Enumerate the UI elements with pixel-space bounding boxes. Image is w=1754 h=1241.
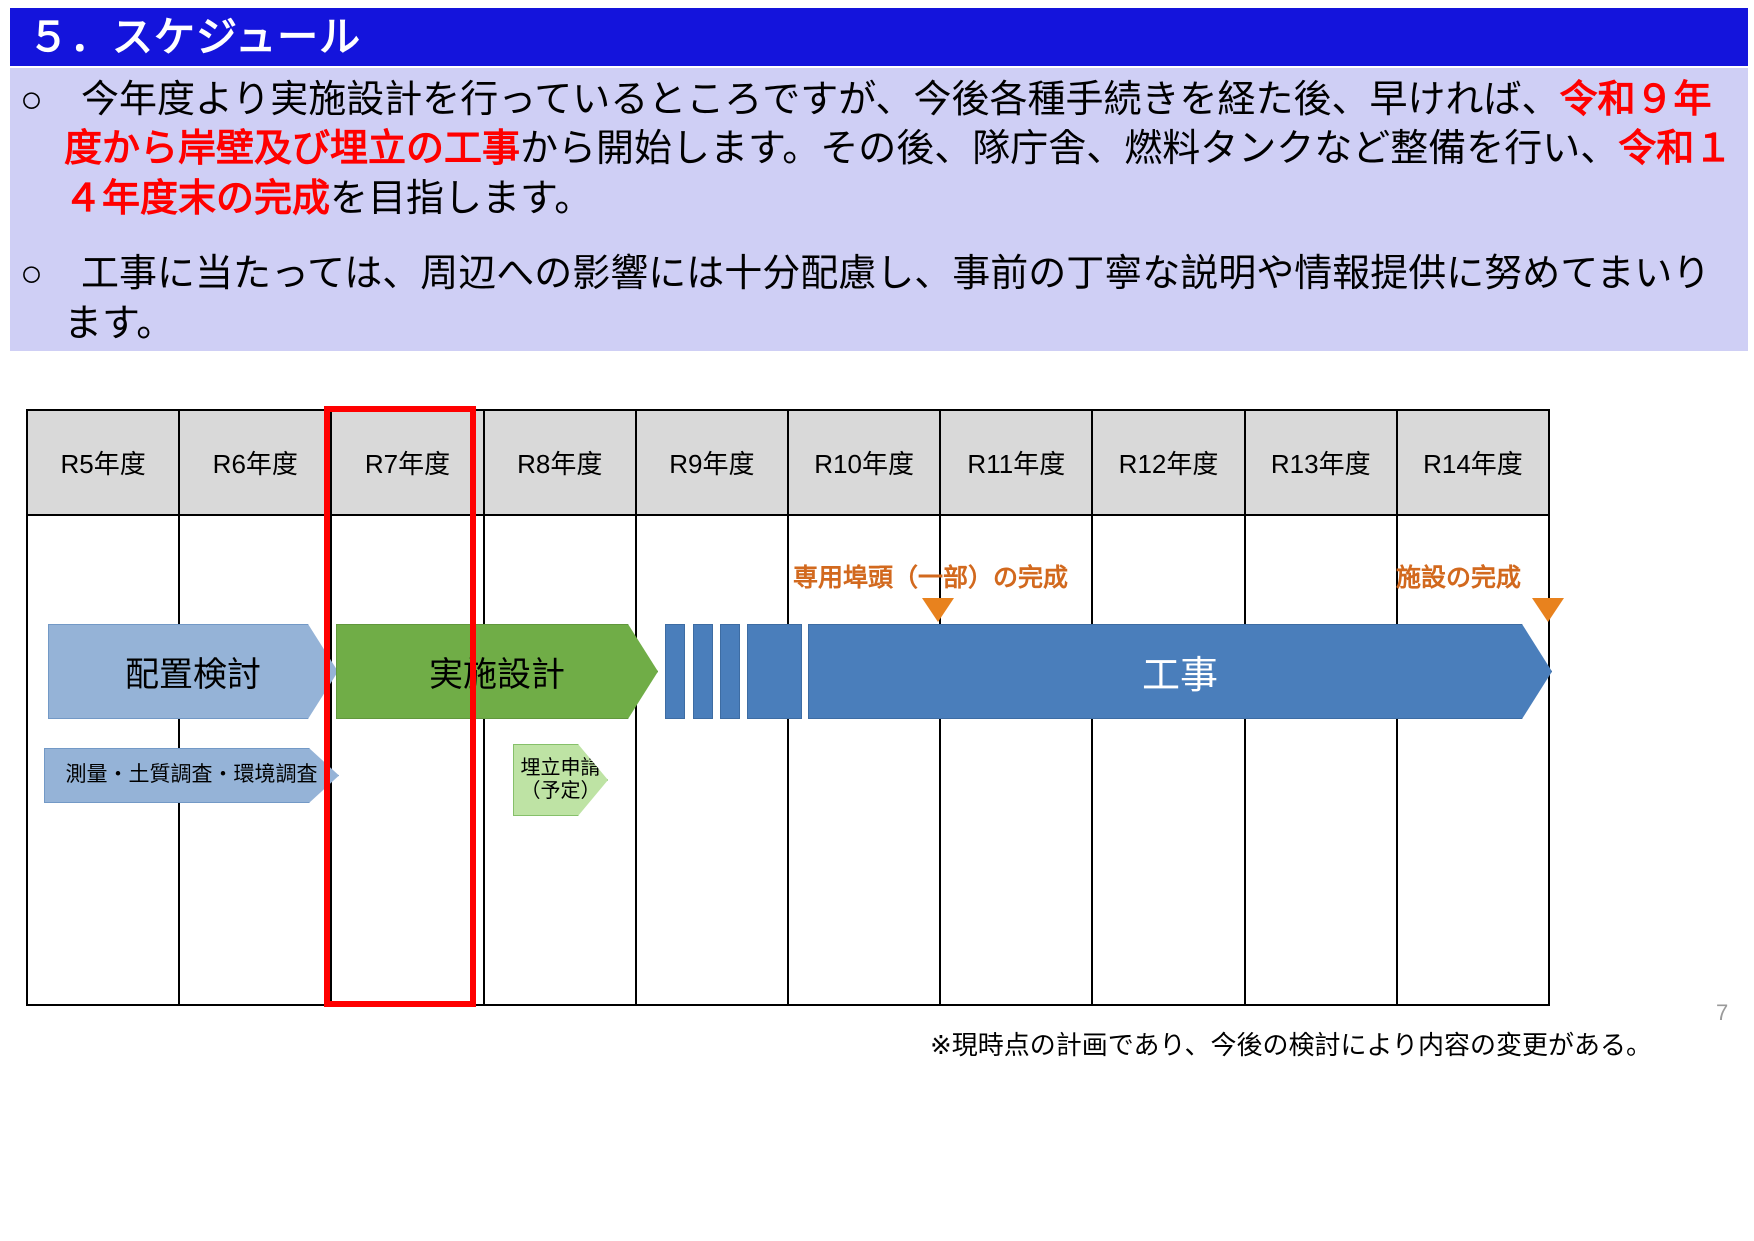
- gantt-column-r12: [1093, 516, 1245, 1004]
- bullet-paragraph-1: ○ 今年度より実施設計を行っているところですが、今後各種手続きを経た後、早ければ…: [20, 76, 1740, 224]
- milestone-label-shisetsu: 施設の完成: [1396, 558, 1521, 594]
- gantt-bar-kouji: 工事: [808, 624, 1552, 719]
- fiscal-year-header-r8: R8年度: [485, 411, 637, 514]
- gantt-slab-3: [720, 624, 740, 719]
- schedule-gantt-table: R5年度 R6年度 R7年度 R8年度 R9年度 R10年度 R11年度 R12…: [26, 409, 1550, 1006]
- page-number: 7: [1716, 1000, 1728, 1026]
- fiscal-year-header-r10: R10年度: [789, 411, 941, 514]
- lead-text-block: ○ 今年度より実施設計を行っているところですが、今後各種手続きを経た後、早ければ…: [10, 68, 1748, 351]
- bullet1-segment-1: 今年度より実施設計を行っているところですが、今後各種手続きを経た後、早ければ、: [43, 79, 1560, 121]
- gantt-slab-2: [693, 624, 713, 719]
- gantt-subbar-survey: 測量・土質調査・環境調査: [44, 748, 339, 803]
- bullet-marker-1: ○: [20, 79, 43, 121]
- slide-canvas: ５．スケジュール ○ 今年度より実施設計を行っているところですが、今後各種手続き…: [0, 0, 1754, 1241]
- milestone-marker-shisetsu-icon: [1532, 598, 1564, 622]
- fiscal-year-header-r12: R12年度: [1093, 411, 1245, 514]
- fiscal-year-header-r7: R7年度: [332, 411, 484, 514]
- bullet-marker-2: ○: [20, 253, 43, 295]
- bullet2-text: 工事に当たっては、周辺への影響には十分配慮し、事前の丁寧な説明や情報提供に努めて…: [43, 253, 1710, 344]
- gantt-bar-haichi-kentou: 配置検討: [48, 624, 338, 719]
- fiscal-year-header-r5: R5年度: [28, 411, 180, 514]
- fiscal-year-header-row: R5年度 R6年度 R7年度 R8年度 R9年度 R10年度 R11年度 R12…: [28, 411, 1548, 516]
- gantt-column-r13: [1246, 516, 1398, 1004]
- gantt-slab-1: [665, 624, 685, 719]
- gantt-column-r9: [637, 516, 789, 1004]
- page-title: ５．スケジュール: [10, 17, 361, 58]
- fiscal-year-header-r14: R14年度: [1398, 411, 1548, 514]
- bullet1-segment-3: を目指します。: [330, 178, 592, 220]
- gantt-column-r7: [332, 516, 484, 1004]
- gantt-bar-jisshi-sekkei: 実施設計: [336, 624, 658, 719]
- gantt-slab-4: [747, 624, 802, 719]
- landfill-application-line1: 埋立申請: [521, 757, 601, 780]
- landfill-application-line2: （予定）: [521, 780, 601, 803]
- bullet1-segment-2: から開始します。その後、隊庁舎、燃料タンクなど整備を行い、: [520, 128, 1618, 170]
- fiscal-year-header-r9: R9年度: [637, 411, 789, 514]
- fiscal-year-header-r13: R13年度: [1246, 411, 1398, 514]
- fiscal-year-header-r11: R11年度: [941, 411, 1093, 514]
- milestone-marker-futo-icon: [922, 598, 954, 622]
- slide-title-bar: ５．スケジュール: [10, 8, 1748, 66]
- fiscal-year-header-r6: R6年度: [180, 411, 332, 514]
- footnote-text: ※現時点の計画であり、今後の検討により内容の変更がある。: [930, 1025, 1652, 1062]
- milestone-label-futo: 専用埠頭（一部）の完成: [793, 558, 1068, 594]
- bullet-paragraph-2: ○ 工事に当たっては、周辺への影響には十分配慮し、事前の丁寧な説明や情報提供に努…: [20, 250, 1740, 349]
